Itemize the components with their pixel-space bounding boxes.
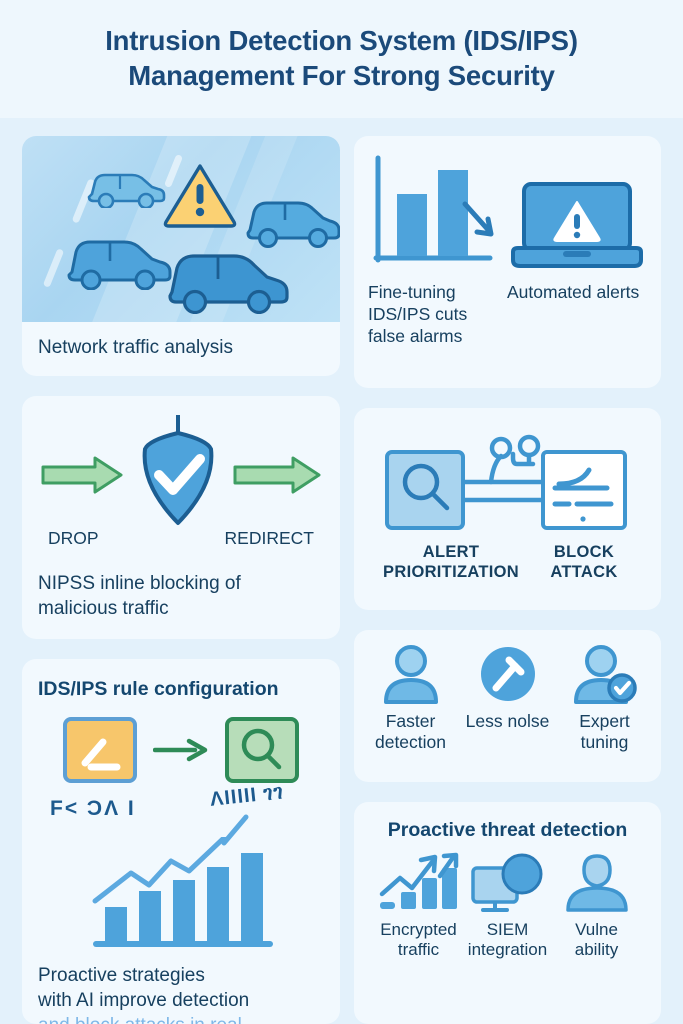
benefit-label: Expert tuning bbox=[557, 711, 653, 754]
benefit-faster-detection: Faster detection bbox=[363, 644, 459, 754]
benefit-label: Faster detection bbox=[363, 711, 459, 754]
card-benefits: Faster detection Less nolse bbox=[354, 630, 661, 782]
nipss-caption: NIPSS inline blocking of malicious traff… bbox=[38, 571, 324, 621]
rule-configuration-flow bbox=[38, 715, 324, 785]
caption-line-2: with AI improve detection bbox=[38, 988, 324, 1013]
magnifier-box-icon bbox=[387, 452, 463, 528]
alert-prioritization-illustration bbox=[370, 430, 645, 534]
nipss-illustration bbox=[38, 416, 324, 534]
proactive-vulnerability: Vulne ability bbox=[552, 852, 641, 961]
card-alert-prioritization: ALERT PRIORITIZATION BLOCK ATTACK bbox=[354, 408, 661, 610]
car-icon bbox=[160, 242, 294, 314]
growth-arrow-chart-icon bbox=[376, 852, 462, 914]
proactive-threat-title: Proactive threat detection bbox=[370, 818, 645, 844]
tick-stroke-icon bbox=[220, 813, 260, 847]
page-title: Intrusion Detection System (IDS/IPS) Man… bbox=[105, 24, 578, 94]
card-nipss-inline-blocking: DROP REDIRECT NIPSS inline blocking of m… bbox=[22, 396, 340, 639]
benefit-label: Less nolse bbox=[466, 711, 550, 732]
proactive-encrypted-traffic: Encrypted traffic bbox=[374, 852, 463, 961]
monitor-globe-icon bbox=[465, 852, 551, 914]
warning-triangle-icon bbox=[162, 160, 238, 230]
caption-line-1: Proactive strategies bbox=[38, 963, 324, 988]
fine-tuning-left: Fine-tuning IDS/IPS cuts false alarms bbox=[368, 152, 503, 348]
wrench-circle-icon bbox=[477, 644, 539, 704]
card-network-traffic: Network traffic analysis bbox=[22, 136, 340, 376]
user-shield-icon bbox=[558, 852, 636, 914]
page-title-line-2: Management For Strong Security bbox=[128, 60, 554, 91]
benefit-expert-tuning: Expert tuning bbox=[557, 644, 653, 754]
growth-bar-chart-icon bbox=[38, 837, 324, 955]
glyph-text-right: ΛIIIII ገገ bbox=[209, 781, 285, 812]
label-redirect: REDIRECT bbox=[225, 528, 314, 549]
car-icon bbox=[60, 228, 176, 290]
shield-check-icon bbox=[125, 413, 231, 537]
network-traffic-caption-row: Network traffic analysis bbox=[22, 322, 340, 376]
magnifier-box-green-icon bbox=[223, 715, 301, 785]
laptop-alert-icon bbox=[507, 180, 647, 272]
card-proactive-threat-detection: Proactive threat detection bbox=[354, 802, 661, 1024]
proactive-siem-integration: SIEM integration bbox=[463, 852, 552, 961]
cards-columns: Network traffic analysis bbox=[0, 118, 683, 1024]
right-column: Fine-tuning IDS/IPS cuts false alarms Au… bbox=[354, 136, 661, 1024]
fine-tuning-content: Fine-tuning IDS/IPS cuts false alarms Au… bbox=[354, 136, 661, 362]
proactive-label: SIEM integration bbox=[463, 920, 552, 961]
arrow-right-icon bbox=[39, 454, 125, 496]
benefit-less-noise: Less nolse bbox=[460, 644, 556, 732]
traffic-illustration bbox=[22, 136, 340, 322]
rule-configuration-glyphs: F< ƆΛ I ΛIIIII ገገ bbox=[38, 787, 324, 835]
card-rule-configuration: IDS/IPS rule configuration bbox=[22, 659, 340, 1024]
arrow-right-icon bbox=[153, 735, 209, 765]
car-icon bbox=[82, 162, 168, 208]
page-header: Intrusion Detection System (IDS/IPS) Man… bbox=[0, 0, 683, 118]
left-column: Network traffic analysis bbox=[22, 136, 340, 1024]
bar-chart-down-icon bbox=[368, 152, 496, 274]
caption-line-3: and block attacks in real bbox=[38, 1013, 324, 1024]
proactive-label: Encrypted traffic bbox=[374, 920, 463, 961]
car-icon bbox=[240, 190, 340, 248]
proactive-label: Vulne ability bbox=[552, 920, 641, 961]
label-drop: DROP bbox=[48, 528, 99, 549]
user-icon bbox=[380, 644, 442, 704]
arrow-right-icon bbox=[231, 454, 323, 496]
label-alert-prioritization: ALERT PRIORITIZATION bbox=[376, 542, 526, 582]
alert-prioritization-labels: ALERT PRIORITIZATION BLOCK ATTACK bbox=[370, 542, 645, 582]
fine-tuning-caption: Fine-tuning IDS/IPS cuts false alarms bbox=[368, 282, 503, 348]
page-title-line-1: Intrusion Detection System (IDS/IPS) bbox=[105, 25, 578, 56]
glyph-text-left: F< ƆΛ I bbox=[50, 797, 136, 821]
rule-box-orange-icon bbox=[61, 715, 139, 785]
benefits-row: Faster detection Less nolse bbox=[354, 630, 661, 766]
card-fine-tuning: Fine-tuning IDS/IPS cuts false alarms Au… bbox=[354, 136, 661, 388]
automated-alerts-caption: Automated alerts bbox=[507, 282, 647, 304]
network-traffic-caption: Network traffic analysis bbox=[38, 335, 324, 360]
fine-tuning-right: Automated alerts bbox=[507, 152, 647, 348]
infographic-page: Intrusion Detection System (IDS/IPS) Man… bbox=[0, 0, 683, 1024]
rule-configuration-caption: Proactive strategies with AI improve det… bbox=[38, 963, 324, 1024]
proactive-threat-row: Encrypted traffic SIEM integration bbox=[370, 844, 645, 963]
label-block-attack: BLOCK ATTACK bbox=[529, 542, 639, 582]
rule-configuration-title: IDS/IPS rule configuration bbox=[38, 677, 324, 703]
user-verified-icon bbox=[572, 644, 638, 704]
